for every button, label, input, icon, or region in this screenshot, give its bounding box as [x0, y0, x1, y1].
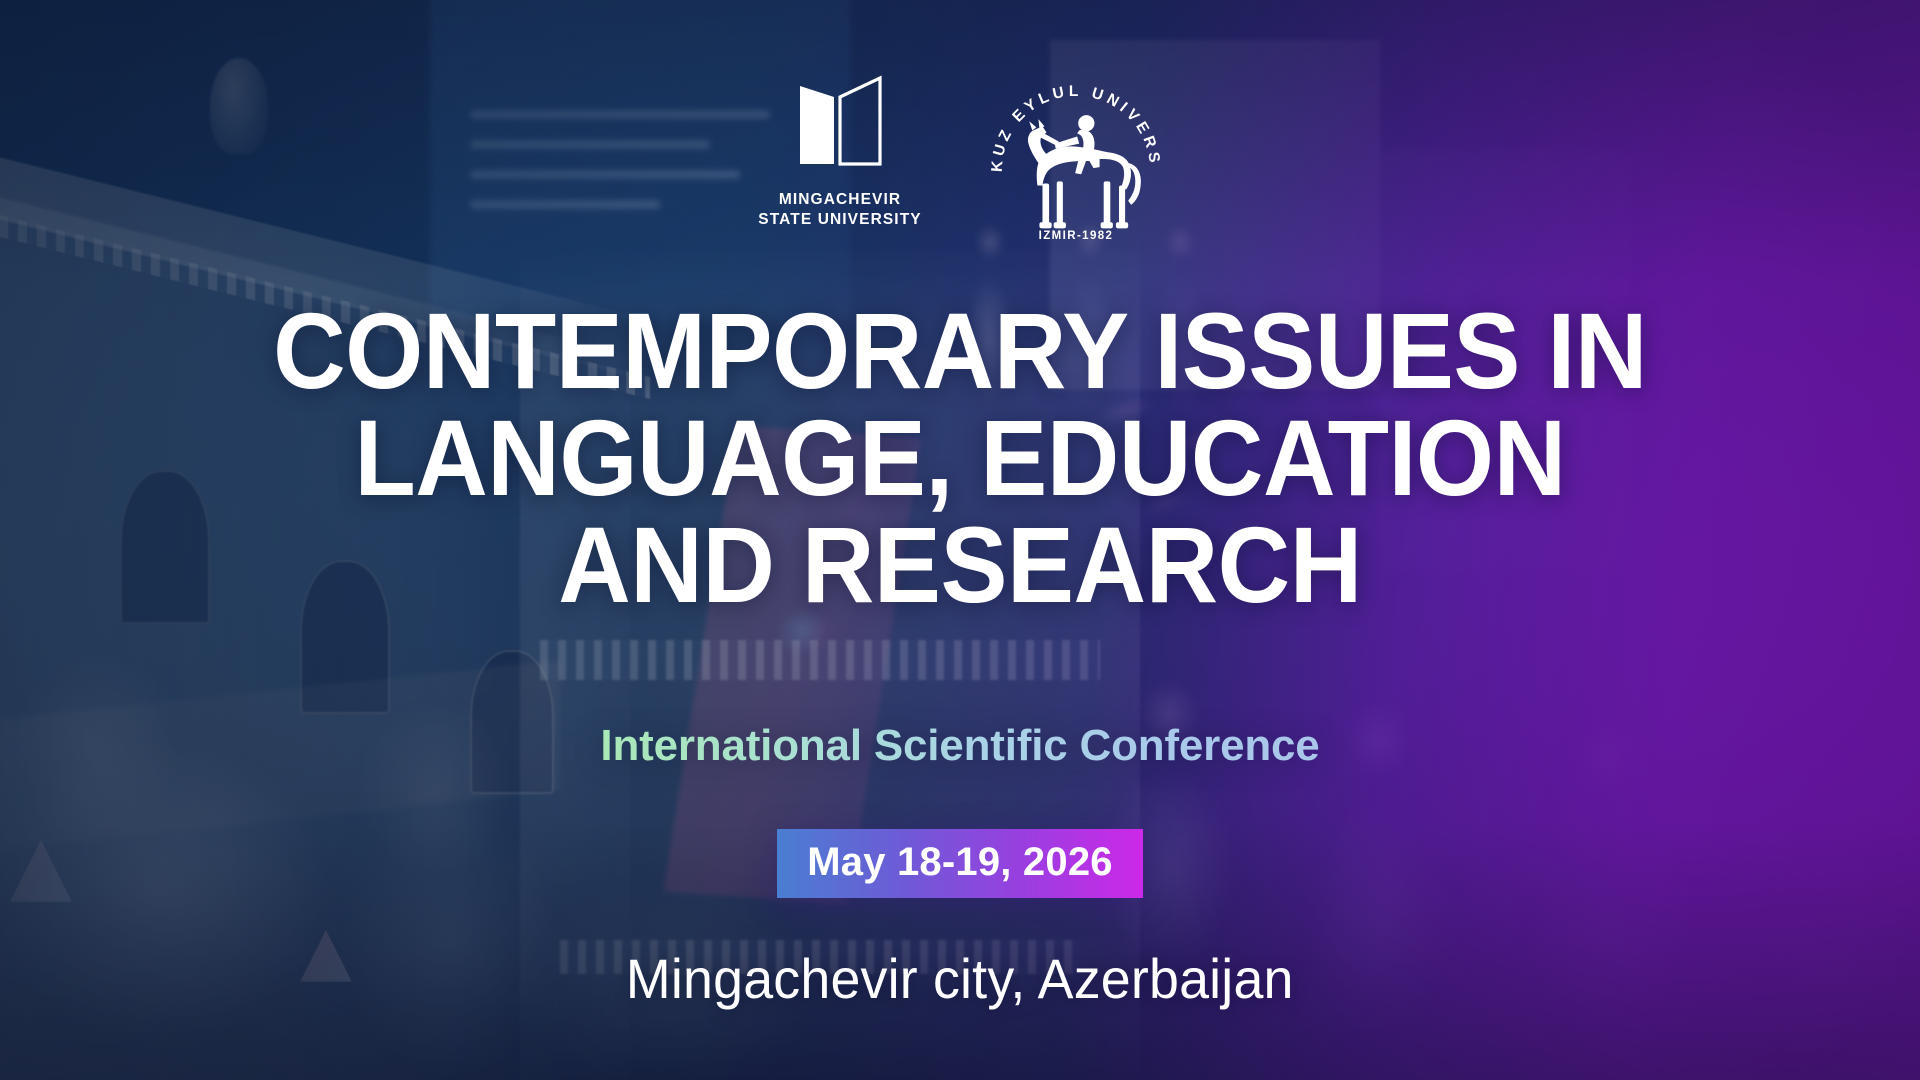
mingachevir-logo-label: MINGACHEVIR STATE UNIVERSITY	[758, 190, 921, 230]
page-title: CONTEMPORARY ISSUES IN LANGUAGE, EDUCATI…	[235, 298, 1686, 619]
location-text: Mingachevir city, Azerbaijan	[626, 946, 1294, 1011]
logo-row: MINGACHEVIR STATE UNIVERSITY DOKUZ EYLUL…	[750, 66, 1170, 254]
title-line-3: AND RESEARCH	[558, 504, 1362, 625]
poster-content: MINGACHEVIR STATE UNIVERSITY DOKUZ EYLUL…	[0, 0, 1920, 1080]
conference-poster: MINGACHEVIR STATE UNIVERSITY DOKUZ EYLUL…	[0, 0, 1920, 1080]
title-line-1: CONTEMPORARY ISSUES IN	[273, 290, 1647, 411]
date-badge: May 18-19, 2026	[777, 829, 1142, 898]
title-line-2: LANGUAGE, EDUCATION	[354, 397, 1565, 518]
conference-subtitle: International Scientific Conference	[600, 721, 1319, 771]
mingachevir-open-book-mark	[784, 66, 896, 178]
dokuz-eylul-horse-rider-seal: DOKUZ EYLUL UNIVERSITY	[982, 66, 1170, 254]
mingachevir-state-university-logo: MINGACHEVIR STATE UNIVERSITY	[750, 66, 930, 230]
dokuz-eylul-university-logo: DOKUZ EYLUL UNIVERSITY	[982, 66, 1170, 254]
dokuz-eylul-seal-subtext: IZMIR-1982	[982, 230, 1170, 242]
